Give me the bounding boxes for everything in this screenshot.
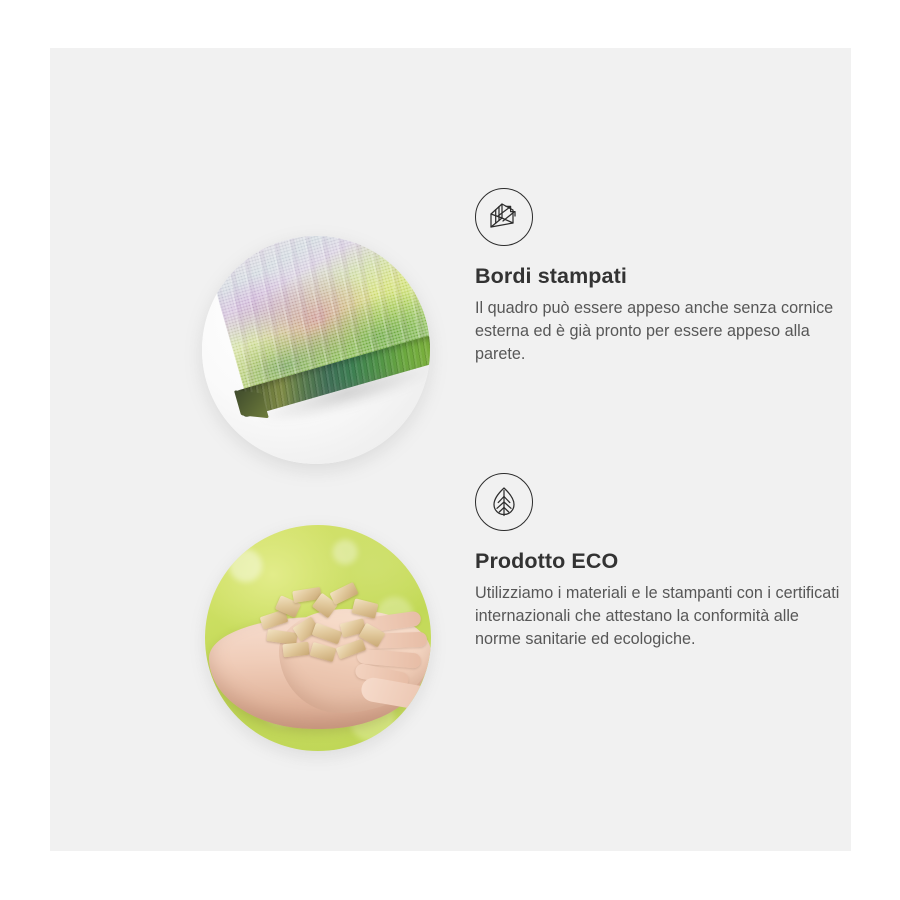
feature-description: Utilizziamo i materiali e le stampanti c…: [475, 582, 843, 651]
feature-title: Bordi stampati: [475, 264, 847, 290]
hands-holding-wood-chips-photo: [205, 525, 431, 751]
page-root: Bordi stampati Il quadro può essere appe…: [0, 0, 900, 900]
leaf-icon: [475, 473, 533, 531]
wood-chip: [352, 598, 379, 618]
feature-text-printed-edges: Bordi stampati Il quadro può essere appe…: [475, 188, 847, 366]
canvas-corner: [202, 236, 430, 456]
wood-chip: [310, 642, 337, 662]
photo-backdrop: [205, 525, 431, 751]
wood-chip: [282, 642, 309, 658]
photo-backdrop: [202, 236, 430, 464]
wood-chip: [312, 623, 343, 645]
wood-chip: [336, 639, 366, 660]
feature-description: Il quadro può essere appeso anche senza …: [475, 297, 843, 366]
feature-title: Prodotto ECO: [475, 549, 847, 575]
content-panel: Bordi stampati Il quadro può essere appe…: [50, 48, 851, 851]
feature-text-eco-product: Prodotto ECO Utilizziamo i materiali e l…: [475, 473, 847, 651]
printed-edges-icon: [475, 188, 533, 246]
wood-chips-pile: [257, 587, 393, 665]
canvas-print-corner-photo: [202, 236, 430, 464]
